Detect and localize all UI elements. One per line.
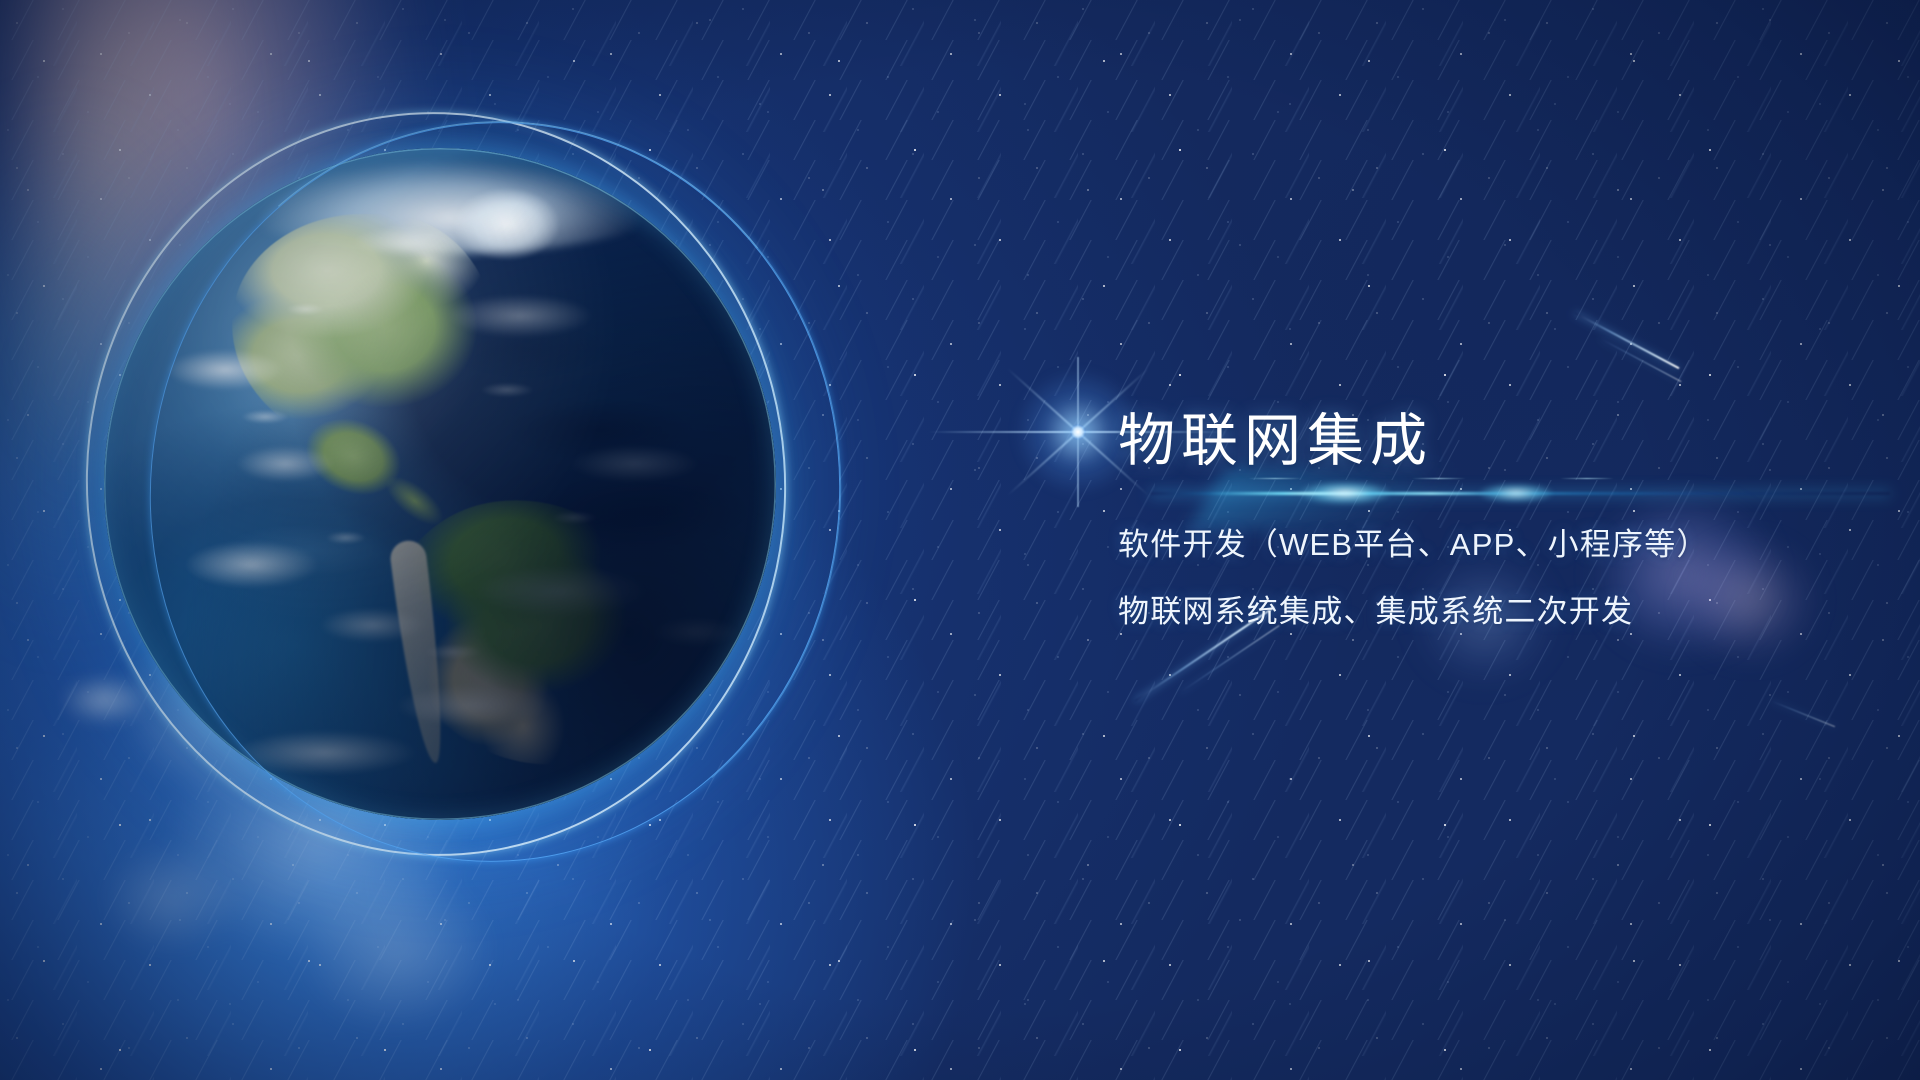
meteor-streak xyxy=(1600,338,1682,382)
earth-globe xyxy=(104,148,776,820)
lens-flare-star-icon xyxy=(1026,380,1130,484)
subtitle-line-1: 软件开发（WEB平台、APP、小程序等） xyxy=(1118,518,1818,571)
meteor-streak xyxy=(1575,312,1680,369)
iot-integration-banner: 物联网集成 软件开发（WEB平台、APP、小程序等） 物联网系统集成、集成系统二… xyxy=(0,0,1920,1080)
banner-subtitle: 软件开发（WEB平台、APP、小程序等） 物联网系统集成、集成系统二次开发 xyxy=(1118,518,1818,639)
flare-core xyxy=(1070,424,1086,440)
flare-ray-vertical xyxy=(1077,357,1079,507)
banner-text-block: 物联网集成 软件开发（WEB平台、APP、小程序等） 物联网系统集成、集成系统二… xyxy=(1118,410,1818,638)
subtitle-line-2: 物联网系统集成、集成系统二次开发 xyxy=(1118,585,1818,638)
page-title: 物联网集成 xyxy=(1118,410,1818,474)
meteor-streak xyxy=(1770,700,1835,727)
